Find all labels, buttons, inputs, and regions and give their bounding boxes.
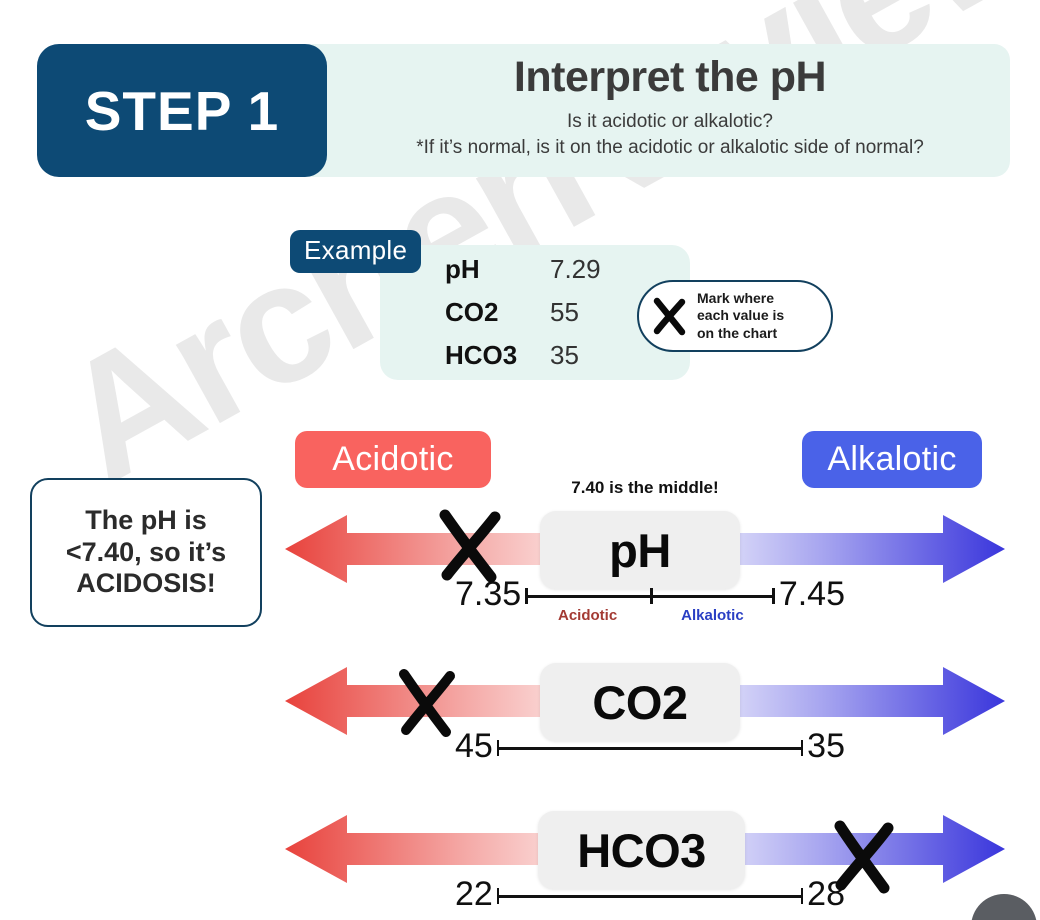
step-badge: STEP 1 <box>37 44 327 177</box>
range-cap-mid <box>650 588 653 604</box>
range-sub-label-acidotic: Acidotic <box>525 607 650 624</box>
range-sub-labels-ph: Acidotic Alkalotic <box>525 607 775 624</box>
x-mark-hco3 <box>830 819 900 895</box>
mark-instruction-text: Mark where each value is on the chart <box>697 290 784 343</box>
range-cap-left <box>497 740 500 756</box>
scale-row-co2: CO2 45 35 <box>285 657 1005 807</box>
range-sub-label-alkalotic: Alkalotic <box>650 607 775 624</box>
example-badge: Example <box>290 230 421 273</box>
legend-pill-alkalotic-label: Alkalotic <box>827 440 956 479</box>
conclusion-line3: ACIDOSIS! <box>66 568 226 600</box>
lab-row: HCO3 35 <box>445 334 601 377</box>
mark-instruction-line1: Mark where <box>697 290 784 308</box>
example-badge-label: Example <box>304 235 407 265</box>
scale-label-box-co2: CO2 <box>540 663 740 741</box>
scale-row-ph: pH 7.35 Acidotic Alkalotic 7.45 <box>285 505 1005 655</box>
x-mark-ph <box>435 507 507 585</box>
header-subtitle: Is it acidotic or alkalotic? *If it’s no… <box>330 109 1010 160</box>
range-line <box>497 747 803 750</box>
header-subtitle-line1: Is it acidotic or alkalotic? <box>330 109 1010 135</box>
lab-value: 55 <box>550 297 579 328</box>
infographic-canvas: ArcherReview™ Interpret the pH Is it aci… <box>0 0 1040 920</box>
range-cap-right <box>772 588 775 604</box>
scale-label-box-hco3: HCO3 <box>538 811 745 889</box>
range-bar-co2 <box>497 737 803 759</box>
scale-label-co2: CO2 <box>592 675 687 730</box>
x-mark-icon <box>651 295 689 337</box>
range-bar-ph: Acidotic Alkalotic <box>525 585 775 607</box>
scale-label-hco3: HCO3 <box>577 823 706 878</box>
mark-instruction-callout: Mark where each value is on the chart <box>637 280 833 352</box>
normal-range-co2: 45 35 <box>455 737 845 797</box>
conclusion-text: The pH is <7.40, so it’s ACIDOSIS! <box>66 505 226 601</box>
legend-pill-acidotic: Acidotic <box>295 431 491 488</box>
lab-name: HCO3 <box>445 340 550 371</box>
lab-value: 7.29 <box>550 254 601 285</box>
conclusion-callout: The pH is <7.40, so it’s ACIDOSIS! <box>30 478 262 627</box>
scale-label-box-ph: pH <box>540 511 740 589</box>
range-line <box>497 895 803 898</box>
conclusion-line1: The pH is <box>66 505 226 537</box>
range-cap-right <box>801 888 804 904</box>
lab-row: pH 7.29 <box>445 248 601 291</box>
lab-row: CO2 55 <box>445 291 601 334</box>
header-text-group: Interpret the pH Is it acidotic or alkal… <box>330 44 1010 177</box>
lab-value: 35 <box>550 340 579 371</box>
range-cap-left <box>497 888 500 904</box>
scale-row-hco3: HCO3 22 28 <box>285 805 1005 920</box>
mark-instruction-line2: each value is <box>697 307 784 325</box>
range-high-ph: 7.45 <box>779 577 845 611</box>
scale-label-ph: pH <box>609 523 671 578</box>
range-low-hco3: 22 <box>455 877 493 911</box>
legend-pill-acidotic-label: Acidotic <box>332 440 453 479</box>
normal-range-ph: 7.35 Acidotic Alkalotic 7.45 <box>455 585 845 645</box>
range-high-co2: 35 <box>807 729 845 763</box>
step-badge-label: STEP 1 <box>85 79 280 143</box>
legend-pill-alkalotic: Alkalotic <box>802 431 982 488</box>
page-title: Interpret the pH <box>330 54 1010 101</box>
header-subtitle-line2: *If it’s normal, is it on the acidotic o… <box>330 135 1010 161</box>
normal-range-hco3: 22 28 <box>455 885 845 920</box>
range-bar-hco3 <box>497 885 803 907</box>
lab-name: CO2 <box>445 297 550 328</box>
mark-instruction-line3: on the chart <box>697 325 784 343</box>
range-cap-left <box>525 588 528 604</box>
lab-name: pH <box>445 254 550 285</box>
x-mark-co2 <box>395 667 461 739</box>
middle-note: 7.40 is the middle! <box>545 478 745 498</box>
conclusion-line2: <7.40, so it’s <box>66 537 226 569</box>
example-lab-values: pH 7.29 CO2 55 HCO3 35 <box>445 248 601 377</box>
range-cap-right <box>801 740 804 756</box>
